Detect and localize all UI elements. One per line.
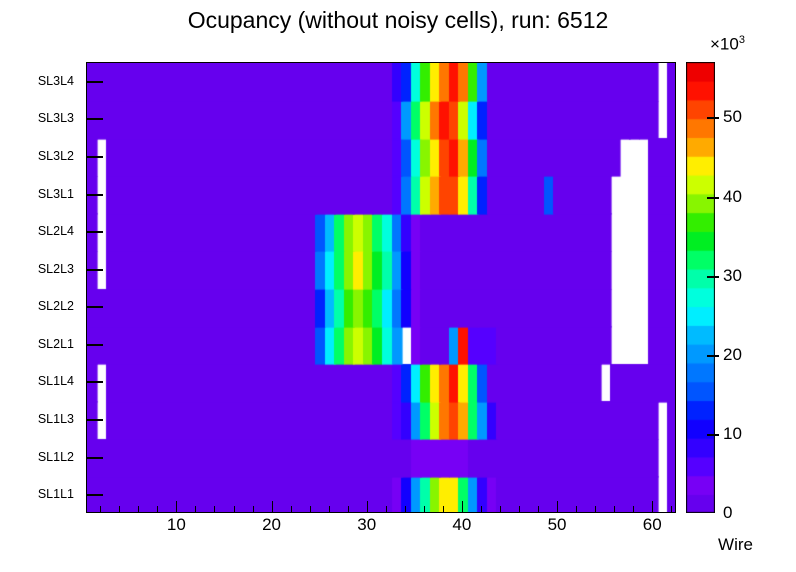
colorbar-label-0: 0 xyxy=(723,503,732,523)
x-axis-label-60: 60 xyxy=(643,515,662,535)
x-axis-minor-tick xyxy=(424,506,425,513)
colorbar-tick xyxy=(707,355,719,357)
x-axis-major-tick xyxy=(462,501,463,513)
x-axis-minor-tick xyxy=(519,506,520,513)
colorbar-tick xyxy=(707,276,719,278)
x-axis-major-tick xyxy=(557,501,558,513)
x-axis-label-10: 10 xyxy=(167,515,186,535)
x-axis-minor-tick xyxy=(100,506,101,513)
y-axis-tick xyxy=(87,306,103,308)
colorbar-tick xyxy=(707,197,719,199)
page-title: Ocupancy (without noisy cells), run: 651… xyxy=(0,7,796,34)
x-axis-minor-tick xyxy=(214,506,215,513)
y-axis-tick xyxy=(87,344,103,346)
y-axis: SL1L1SL1L2SL1L3SL1L4SL2L1SL2L2SL2L3SL2L4… xyxy=(0,62,82,513)
x-axis-major-tick xyxy=(272,501,273,513)
colorbar-label-20: 20 xyxy=(723,345,742,365)
x-axis-label-30: 30 xyxy=(357,515,376,535)
y-axis-tick xyxy=(87,419,103,421)
colorbar-image xyxy=(686,62,715,513)
x-axis-minor-tick xyxy=(671,506,672,513)
colorbar-label-30: 30 xyxy=(723,266,742,286)
y-axis-tick xyxy=(87,494,103,496)
x-axis-minor-tick xyxy=(348,506,349,513)
y-axis-label-sl2l1: SL2L1 xyxy=(38,337,74,351)
y-axis-label-sl3l2: SL3L2 xyxy=(38,149,74,163)
y-axis-label-sl3l1: SL3L1 xyxy=(38,187,74,201)
colorbar-exponent-power: 3 xyxy=(739,34,745,46)
colorbar-label-10: 10 xyxy=(723,424,742,444)
x-axis-label-40: 40 xyxy=(452,515,471,535)
y-axis-tick xyxy=(87,194,103,196)
x-axis-minor-tick xyxy=(157,506,158,513)
colorbar-tick xyxy=(707,117,719,119)
x-axis-minor-tick xyxy=(234,506,235,513)
x-axis-minor-tick xyxy=(500,506,501,513)
x-axis-minor-tick xyxy=(329,506,330,513)
y-axis-tick xyxy=(87,118,103,120)
x-axis-label-20: 20 xyxy=(262,515,281,535)
x-axis-minor-tick xyxy=(291,506,292,513)
y-axis-label-sl3l3: SL3L3 xyxy=(38,111,74,125)
y-axis-tick xyxy=(87,381,103,383)
x-axis-major-tick xyxy=(367,501,368,513)
y-axis-label-sl1l1: SL1L1 xyxy=(38,487,74,501)
y-axis-tick xyxy=(87,81,103,83)
x-axis-minor-tick xyxy=(405,506,406,513)
x-axis-minor-tick xyxy=(443,506,444,513)
y-axis-tick xyxy=(87,231,103,233)
x-axis-major-tick xyxy=(652,501,653,513)
y-axis-label-sl1l4: SL1L4 xyxy=(38,374,74,388)
y-axis-label-sl3l4: SL3L4 xyxy=(38,74,74,88)
plot-canvas: Ocupancy (without noisy cells), run: 651… xyxy=(0,0,796,572)
heatmap-plot-area[interactable] xyxy=(86,62,676,513)
x-axis-minor-tick xyxy=(633,506,634,513)
x-axis-minor-tick xyxy=(119,506,120,513)
x-axis-minor-tick xyxy=(253,506,254,513)
x-axis-minor-tick xyxy=(595,506,596,513)
x-axis-minor-tick xyxy=(195,506,196,513)
x-axis-major-tick xyxy=(176,501,177,513)
x-axis-minor-tick xyxy=(138,506,139,513)
x-axis-minor-tick xyxy=(481,506,482,513)
y-axis-tick xyxy=(87,269,103,271)
y-axis-label-sl2l3: SL2L3 xyxy=(38,262,74,276)
x-axis-minor-tick xyxy=(386,506,387,513)
y-axis-label-sl2l4: SL2L4 xyxy=(38,224,74,238)
x-axis-minor-tick xyxy=(576,506,577,513)
colorbar-exponent: ×103 xyxy=(710,34,745,55)
y-axis-label-sl2l2: SL2L2 xyxy=(38,299,74,313)
y-axis-tick xyxy=(87,156,103,158)
x-axis-title: Wire xyxy=(718,535,753,555)
x-axis-minor-tick xyxy=(310,506,311,513)
x-axis-minor-tick xyxy=(538,506,539,513)
x-axis-minor-tick xyxy=(614,506,615,513)
x-axis-label-50: 50 xyxy=(548,515,567,535)
y-axis-tick xyxy=(87,457,103,459)
y-axis-label-sl1l2: SL1L2 xyxy=(38,450,74,464)
y-axis-label-sl1l3: SL1L3 xyxy=(38,412,74,426)
colorbar-label-40: 40 xyxy=(723,187,742,207)
colorbar[interactable] xyxy=(686,62,715,513)
colorbar-label-50: 50 xyxy=(723,107,742,127)
heatmap-image xyxy=(87,63,676,513)
colorbar-tick xyxy=(707,434,719,436)
